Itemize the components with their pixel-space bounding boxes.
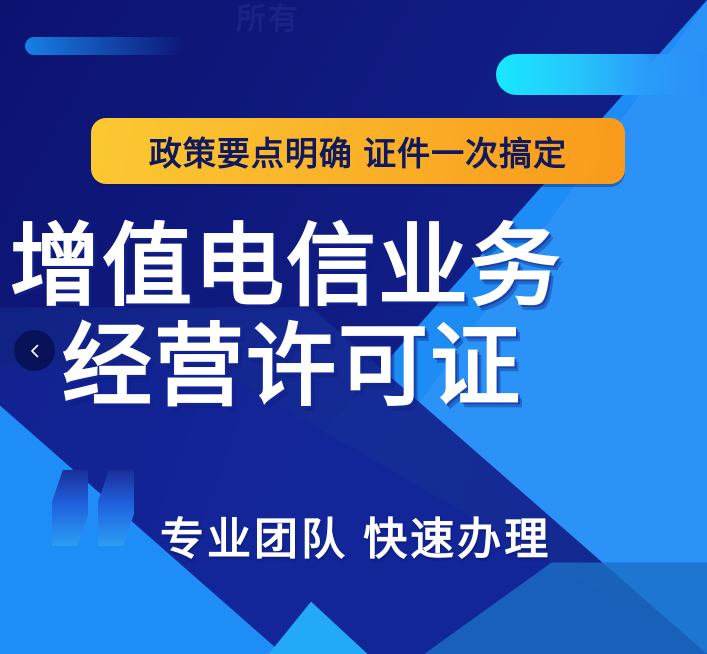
subtitle-text: 专业团队 快速办理 [160,503,551,567]
quote-mark-icon [52,470,136,546]
headline-line-1: 增值电信业务 [0,222,707,314]
promo-banner: 所有 政策要点明确 证件一次搞定 增值电信业务 经营许可证 专业团队 快速办理 [0,0,707,654]
tagline-ribbon-text: 政策要点明确 证件一次搞定 [149,127,567,175]
decor-bar-left [25,37,185,55]
headline-line-2: 经营许可证 [0,322,707,414]
carousel-prev-button[interactable] [14,330,55,371]
watermark-text: 所有 [236,0,300,38]
decor-bar-right [496,54,707,95]
tagline-ribbon: 政策要点明确 证件一次搞定 [91,118,625,184]
quote-mark-stroke-2 [98,470,134,546]
headline-block: 增值电信业务 经营许可证 [0,222,707,414]
quote-mark-stroke-1 [52,470,88,546]
chevron-left-icon [27,343,43,359]
